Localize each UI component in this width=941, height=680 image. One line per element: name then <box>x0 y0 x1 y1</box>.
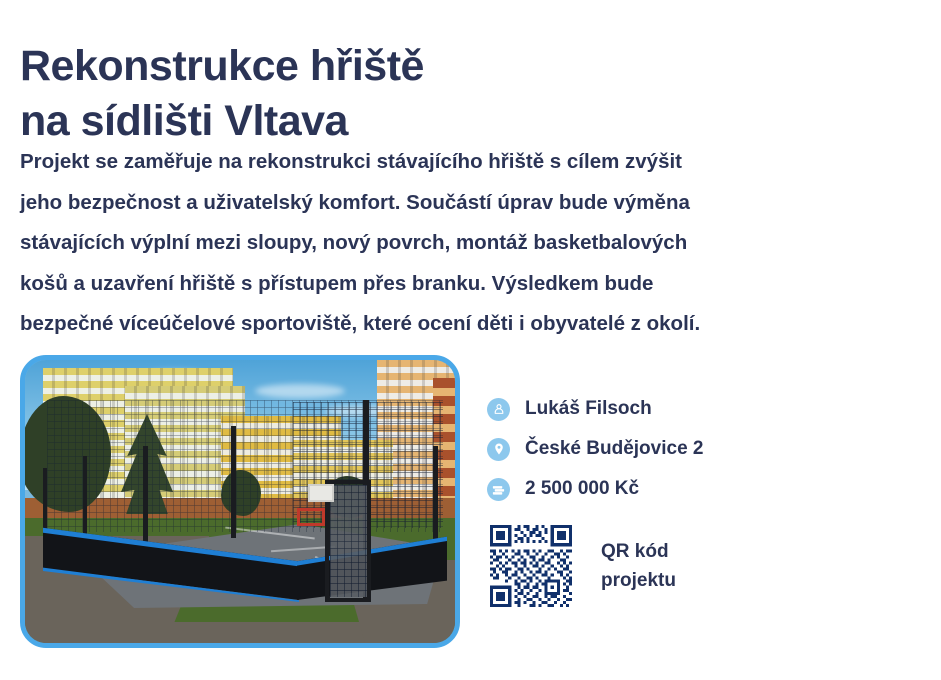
project-meta-list: Lukáš Filsoch České Budějovice 2 2 500 0… <box>487 391 887 511</box>
qr-caption-line-1: QR kód <box>601 537 676 566</box>
photo-fence-post <box>231 426 236 538</box>
photo-fence-post <box>83 456 87 540</box>
project-description-line: stávajících výplní mezi sloupy, nový pov… <box>20 223 910 264</box>
project-photo-frame <box>20 355 460 648</box>
photo-basketball-hoop <box>308 484 334 502</box>
meta-row-budget: 2 500 000 Kč <box>487 471 887 507</box>
project-description-line: jeho bezpečnost a uživatelský komfort. S… <box>20 183 910 224</box>
meta-author-label: Lukáš Filsoch <box>525 398 652 420</box>
money-icon <box>487 478 510 501</box>
person-icon <box>487 398 510 421</box>
qr-block: QR kód projektu <box>487 522 676 610</box>
page-title-line-2: na sídlišti Vltava <box>20 94 720 149</box>
meta-row-author: Lukáš Filsoch <box>487 391 887 427</box>
meta-row-location: České Budějovice 2 <box>487 431 887 467</box>
page-title-line-1: Rekonstrukce hřiště <box>20 39 720 94</box>
photo-cloud <box>255 384 345 398</box>
qr-code-icon[interactable] <box>487 522 575 610</box>
project-description-line: košů a uzavření hřiště s přístupem přes … <box>20 264 910 305</box>
meta-budget-label: 2 500 000 Kč <box>525 478 639 500</box>
project-description-line: Projekt se zaměřuje na rekonstrukci stáv… <box>20 142 910 183</box>
photo-fence-post <box>143 446 148 542</box>
project-description: Projekt se zaměřuje na rekonstrukci stáv… <box>20 142 910 345</box>
qr-caption-line-2: projektu <box>601 566 676 595</box>
location-pin-icon <box>487 438 510 461</box>
project-description-line: bezpečné víceúčelové sportoviště, které … <box>20 304 910 345</box>
project-photo <box>25 360 455 643</box>
page-title: Rekonstrukce hřiště na sídlišti Vltava <box>20 39 720 149</box>
meta-location-label: České Budějovice 2 <box>525 438 703 460</box>
qr-caption: QR kód projektu <box>601 537 676 596</box>
photo-gate-net <box>330 485 367 597</box>
photo-goal <box>297 508 325 526</box>
